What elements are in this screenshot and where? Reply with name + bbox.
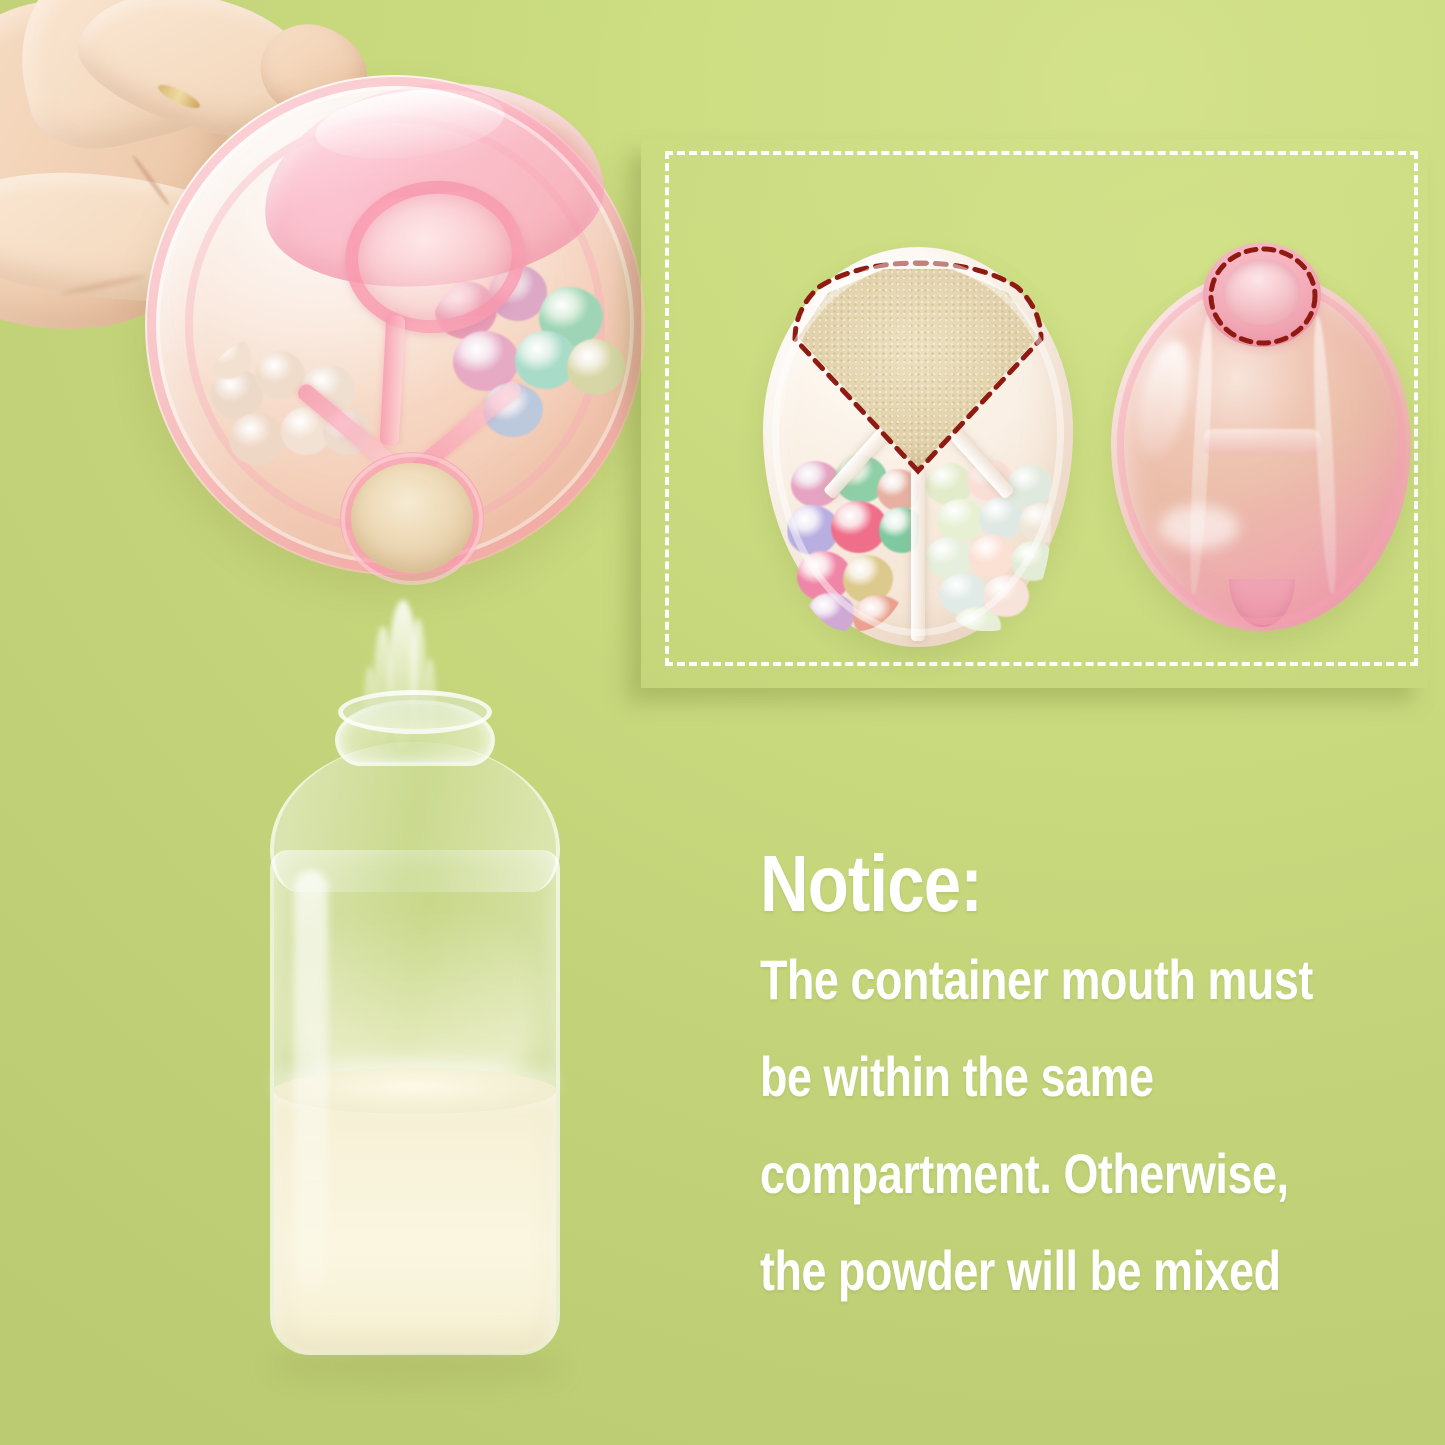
lid-opening-highlight-outline — [1207, 245, 1319, 347]
bottle-highlight — [294, 870, 328, 1290]
notice-line-1: The container mouth must — [760, 952, 1272, 1008]
pink-three-compartment-formula-dispenser — [145, 75, 645, 575]
pouring-demonstration-photo — [0, 0, 660, 1445]
product-infographic: Notice: The container mouth must be with… — [0, 0, 1445, 1445]
notice-line-4: the powder will be mixed — [760, 1243, 1272, 1299]
glass-baby-bottle — [250, 700, 580, 1400]
notice-line-3: compartment. Otherwise, — [760, 1146, 1272, 1202]
notice-heading: Notice: — [760, 846, 1298, 922]
pour-spout-lip — [341, 453, 483, 585]
notice-text-block: Notice: The container mouth must be with… — [760, 846, 1400, 1340]
open-three-compartment-container — [763, 247, 1073, 647]
notice-line-2: be within the same — [760, 1049, 1272, 1105]
inset-detail-panel — [641, 139, 1428, 688]
bottle-mouth — [338, 690, 492, 734]
pink-dispenser-lid — [1111, 243, 1411, 635]
